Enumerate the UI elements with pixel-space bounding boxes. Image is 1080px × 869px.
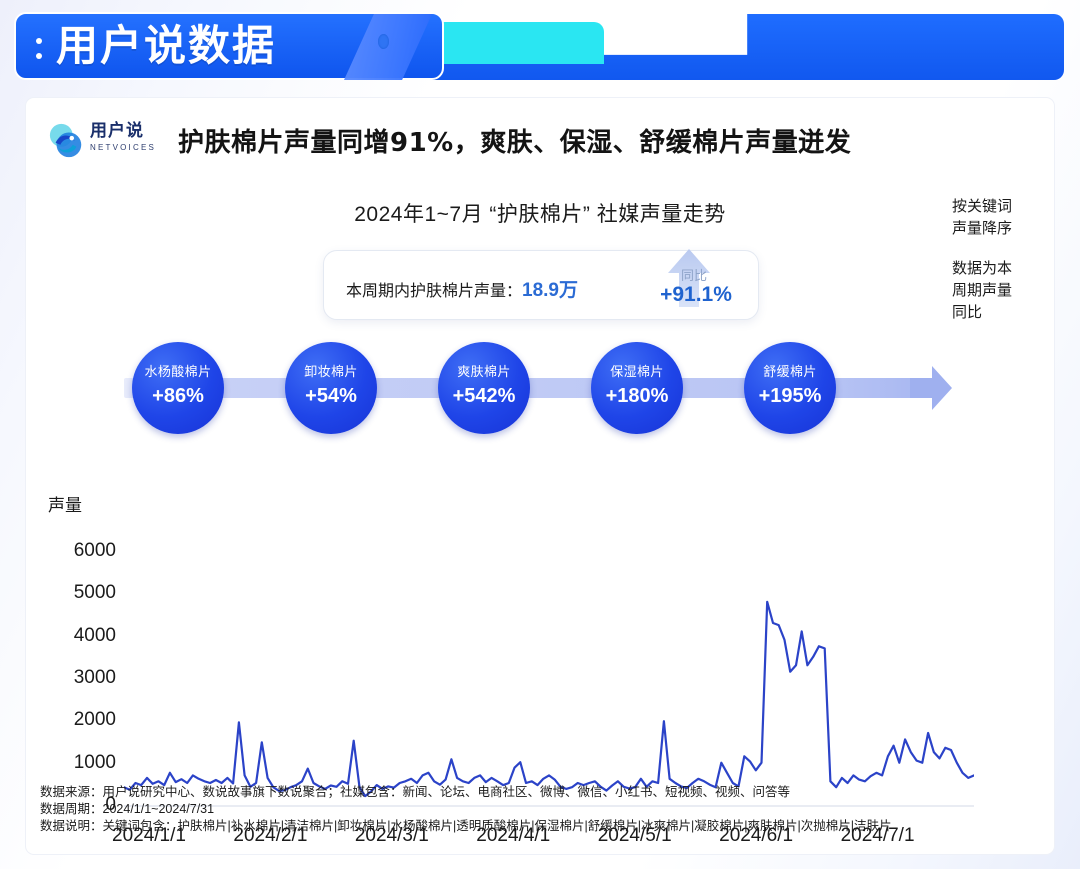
bubble-keyword-1[interactable]: 卸妆棉片 +54% [285,342,377,434]
keyword-bubble-row: 水杨酸棉片 +86% 卸妆棉片 +54% 爽肤棉片 +542% 保湿棉片 +18… [26,338,1054,436]
y-tick-6000: 6000 [44,541,116,560]
side-note-line-1: 按关键词 [952,196,1048,218]
side-note-line-5: 同比 [952,302,1048,324]
banner-title: 用户说数据 [56,23,276,69]
y-tick-4000: 4000 [44,626,116,645]
footer-notes: 数据来源：用户说研究中心、数说故事旗下数说聚合；社媒包含：新闻、论坛、电商社区、… [26,778,1068,835]
y-tick-5000: 5000 [44,583,116,602]
report-card: 用户说 NETVOICES 护肤棉片声量同增91%，爽肤、保湿、舒缓棉片声量迸发… [26,98,1054,854]
bubble-change-3: +180% [591,385,683,407]
bubble-keyword-4[interactable]: 舒缓棉片 +195% [744,342,836,434]
footer-source-label: 数据来源： [40,785,103,799]
y-tick-3000: 3000 [44,668,116,687]
line-chart: 声量 6000500040003000200010000 2024/1/1202… [26,443,1054,753]
brand-logo-text: 用户说 NETVOICES [90,122,156,154]
y-tick-2000: 2000 [44,710,116,729]
bubble-change-0: +86% [132,385,224,407]
chart-subtitle: 2024年1~7月 “护肤棉片” 社媒声量走势 [26,198,1054,228]
summary-label: 本周期内护肤棉片声量： [346,283,522,300]
summary-panel: 本周期内护肤棉片声量：18.9万 同比 +91.1% [323,250,759,320]
bubble-keyword-label-2: 爽肤棉片 [438,364,530,380]
footer-source-line: 数据来源：用户说研究中心、数说故事旗下数说聚合；社媒包含：新闻、论坛、电商社区、… [40,784,1068,801]
chart-plot-area [124,551,974,805]
brand-logo: 用户说 NETVOICES [48,118,166,164]
footer-note-line: 数据说明：关键词包含：护肤棉片|补水棉片|清洁棉片|卸妆棉片|水杨酸棉片|透明质… [40,818,1068,835]
bubble-keyword-0[interactable]: 水杨酸棉片 +86% [132,342,224,434]
yoy-label: 同比 [664,265,724,284]
footer-period-line: 数据周期：2024/1/1~2024/7/31 [40,801,1068,818]
page-title: 护肤棉片声量同增91%，爽肤、保湿、舒缓棉片声量迸发 [178,122,851,159]
summary-text: 本周期内护肤棉片声量：18.9万 [346,275,578,302]
bubble-keyword-2[interactable]: 爽肤棉片 +542% [438,342,530,434]
side-note-line-2: 声量降序 [952,218,1048,240]
y-axis-title: 声量 [48,491,82,516]
bubble-change-4: +195% [744,385,836,407]
netvoices-swirl-icon [48,122,86,160]
bubble-keyword-label-4: 舒缓棉片 [744,364,836,380]
side-note-line-3: 数据为本 [952,258,1048,280]
side-note: 按关键词 声量降序 数据为本 周期声量 同比 [952,196,1048,324]
brand-name-cn: 用户说 [90,122,156,140]
footer-period-label: 数据周期： [40,802,103,816]
footer-source-value: 用户说研究中心、数说故事旗下数说聚合；社媒包含：新闻、论坛、电商社区、微博、微信… [103,785,791,799]
footer-note-label: 数据说明： [40,819,103,833]
bubble-keyword-3[interactable]: 保湿棉片 +180% [591,342,683,434]
footer-period-value: 2024/1/1~2024/7/31 [103,802,215,816]
footer-note-value: 关键词包含：护肤棉片|补水棉片|清洁棉片|卸妆棉片|水杨酸棉片|透明质酸棉片|保… [103,819,892,833]
banner-dots-icon [36,38,42,68]
header-banner: 用户说数据 [14,12,1066,84]
y-tick-1000: 1000 [44,753,116,772]
side-note-line-4: 周期声量 [952,280,1048,302]
arrow-right-icon [910,362,952,414]
bubble-keyword-label-0: 水杨酸棉片 [132,364,224,380]
bubble-change-2: +542% [438,385,530,407]
summary-value: 18.9万 [522,280,578,301]
bubble-change-1: +54% [285,385,377,407]
banner-hole-icon [378,34,389,49]
brand-name-en: NETVOICES [90,142,156,154]
poster-background: 用户说数据 用户说 NETVOICES 护肤棉片声量同增91%，爽肤、保湿、舒缓… [0,0,1080,869]
series-line-0 [124,602,974,796]
yoy-value: +91.1% [646,283,746,307]
bubble-keyword-label-1: 卸妆棉片 [285,364,377,380]
bubble-keyword-label-3: 保湿棉片 [591,364,683,380]
